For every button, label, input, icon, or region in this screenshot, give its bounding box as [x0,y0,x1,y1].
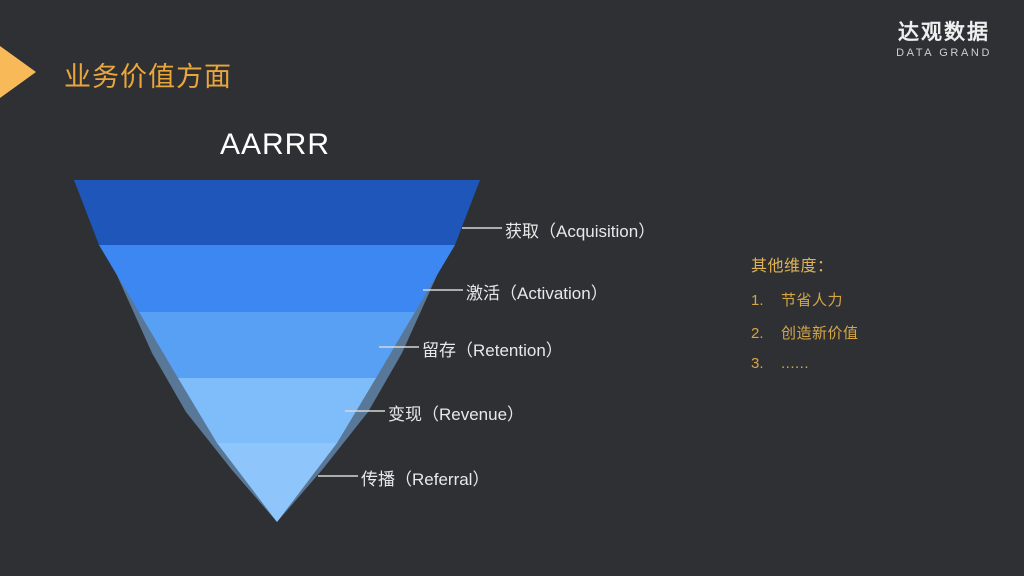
funnel-layer-acquisition [74,180,480,245]
funnel-layer-activation [99,245,455,312]
list-item: 2. 创造新价值 [751,322,859,343]
list-item-label: ...... [781,355,809,372]
list-item-number: 3. [751,355,781,372]
funnel-stage-label-acquisition: 获取（Acquisition） [505,217,655,242]
funnel-layer-retention [139,312,415,378]
list-item: 3. ...... [751,355,859,372]
list-item: 1. 节省人力 [751,289,859,310]
list-item-label: 节省人力 [781,289,843,310]
funnel-stage-label-retention: 留存（Retention） [422,336,563,361]
list-item-label: 创造新价值 [781,322,859,343]
other-dimensions-block: 其他维度： 1. 节省人力 2. 创造新价值 3. ...... [751,252,859,384]
funnel-stage-label-activation: 激活（Activation） [466,279,608,304]
funnel-layer-referral [217,443,337,522]
slide-canvas: 业务价值方面 达观数据 DATA GRAND AARRR [0,0,1024,576]
funnel-stage-label-revenue: 变现（Revenue） [388,400,524,425]
list-item-number: 2. [751,325,781,342]
funnel-stage-label-referral: 传播（Referral） [361,465,489,490]
list-item-number: 1. [751,292,781,309]
other-dimensions-title: 其他维度： [751,252,859,276]
